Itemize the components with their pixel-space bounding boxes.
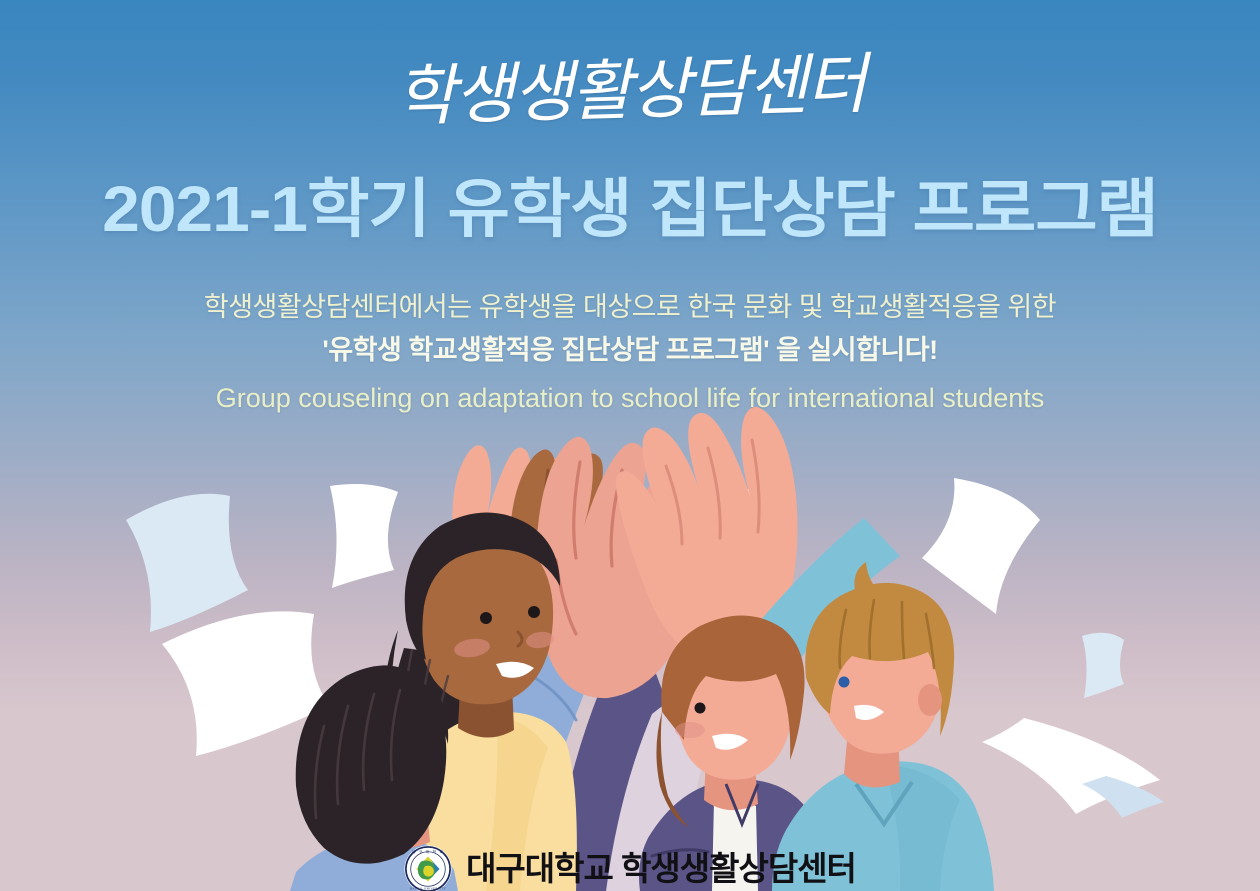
description-line-english: Group couseling on adaptation to school … [0, 377, 1260, 420]
svg-text:DAEGU UNIVERSITY: DAEGU UNIVERSITY [410, 887, 446, 891]
center-script-title: 학생생활상담센터 [0, 40, 1260, 141]
footer-organization-label: 대구대학교 학생생활상담센터 [466, 847, 856, 891]
daegu-university-seal-icon: 대 구 대 학 교 DAEGU UNIVERSITY [404, 845, 452, 891]
svg-text:대 구 대 학 교: 대 구 대 학 교 [412, 849, 444, 854]
page-title: 2021-1학기 유학생 집단상담 프로그램 [0, 176, 1260, 243]
description-line-2: '유학생 학교생활적응 집단상담 프로그램' 을 실시합니다! [0, 329, 1260, 372]
text-layer: 학생생활상담센터 2021-1학기 유학생 집단상담 프로그램 학생생활상담센터… [0, 0, 1260, 891]
description-block: 학생생활상담센터에서는 유학생을 대상으로 한국 문화 및 학교생활적응을 위한… [0, 286, 1260, 420]
description-line-1: 학생생활상담센터에서는 유학생을 대상으로 한국 문화 및 학교생활적응을 위한 [0, 286, 1260, 329]
footer-bar: 대 구 대 학 교 DAEGU UNIVERSITY 대구대학교 학생생활상담센… [0, 845, 1260, 891]
poster-canvas: 학생생활상담센터 2021-1학기 유학생 집단상담 프로그램 학생생활상담센터… [0, 0, 1260, 891]
